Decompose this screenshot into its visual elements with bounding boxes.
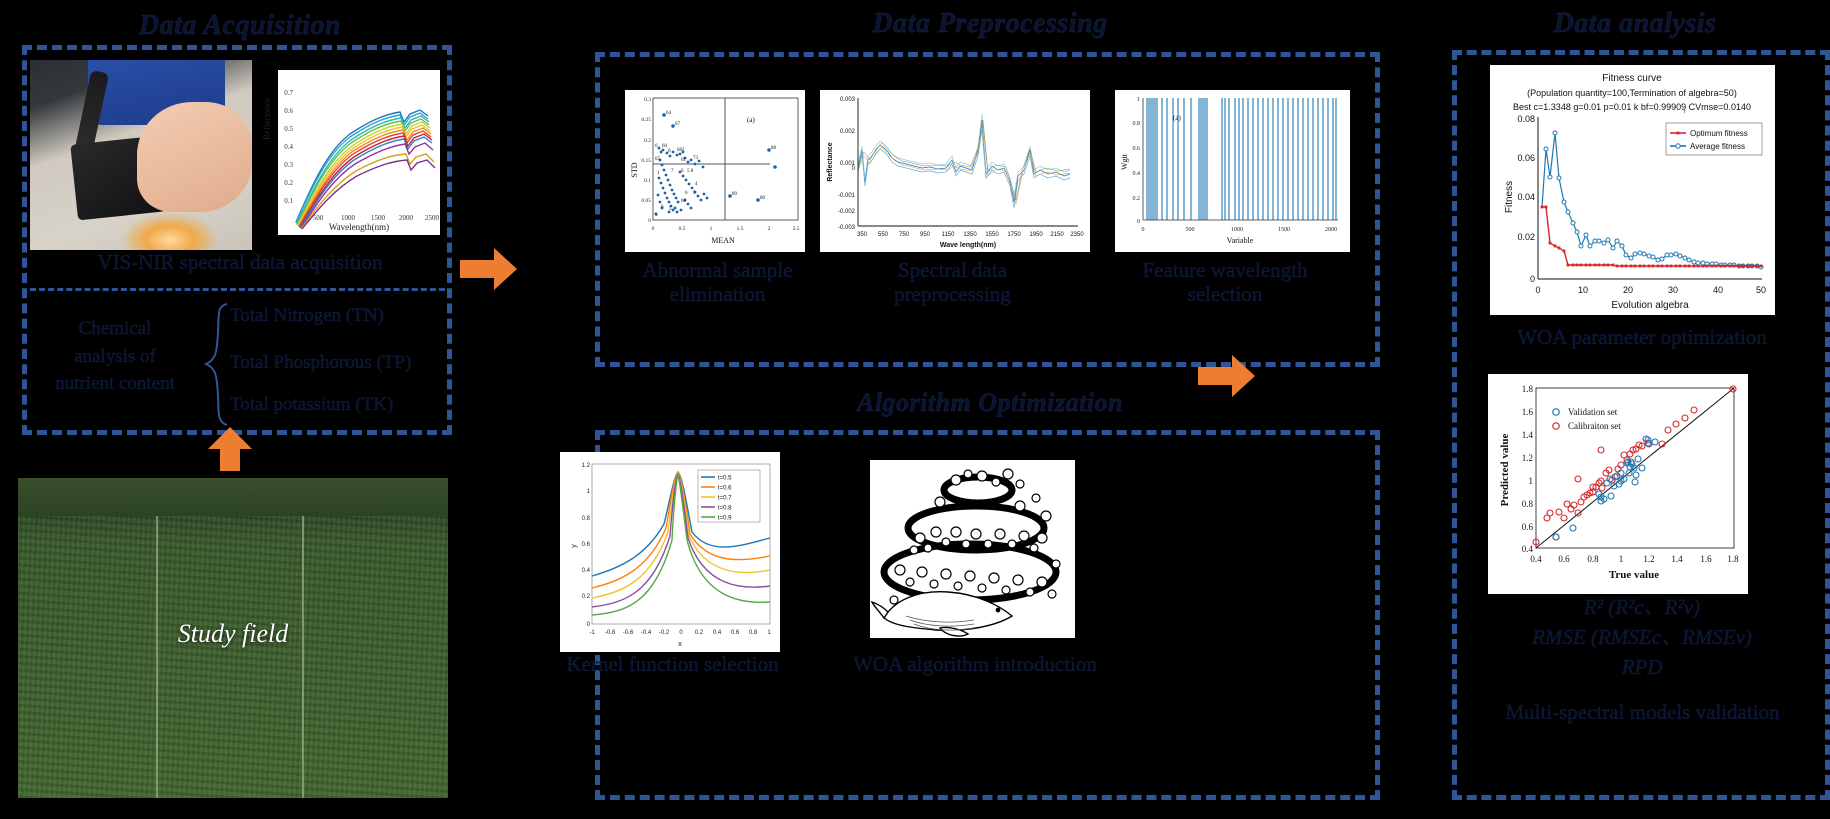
svg-text:1.8: 1.8 bbox=[1522, 384, 1534, 394]
svg-text:1500: 1500 bbox=[1278, 227, 1290, 233]
svg-text:80: 80 bbox=[760, 196, 766, 201]
svg-text:2350: 2350 bbox=[1070, 232, 1084, 238]
svg-text:y: y bbox=[571, 544, 578, 548]
svg-text:0: 0 bbox=[852, 166, 856, 172]
svg-text:0.6: 0.6 bbox=[1522, 522, 1534, 532]
caption-spectral-preprocessing: Spectral data preprocessing bbox=[840, 258, 1065, 306]
svg-text:-0.003: -0.003 bbox=[838, 225, 856, 231]
svg-text:t=0.9: t=0.9 bbox=[718, 516, 732, 522]
caption-woa-algorithm: WOA algorithm introduction bbox=[800, 652, 1150, 676]
svg-text:0.4: 0.4 bbox=[713, 630, 722, 636]
svg-text:0.2: 0.2 bbox=[1133, 196, 1141, 202]
svg-text:1950: 1950 bbox=[1029, 232, 1043, 238]
section-title-analysis: Data analysis bbox=[1440, 8, 1830, 40]
svg-text:0: 0 bbox=[648, 218, 651, 224]
svg-text:0.4: 0.4 bbox=[284, 143, 293, 151]
svg-text:1: 1 bbox=[710, 226, 713, 232]
svg-text:1.5: 1.5 bbox=[737, 226, 744, 232]
svg-text:1000: 1000 bbox=[1231, 227, 1243, 233]
svg-text:0: 0 bbox=[587, 622, 591, 628]
svg-text:67: 67 bbox=[675, 122, 681, 127]
arrow-acquisition-to-preprocessing bbox=[460, 248, 518, 290]
spectral-preprocessing-plot: 0.0030.0020.001 0-0.001-0.002 -0.003 350… bbox=[820, 90, 1090, 252]
svg-text:0.3: 0.3 bbox=[644, 97, 651, 103]
svg-text:Average fitness: Average fitness bbox=[1690, 142, 1745, 151]
svg-text:0.4: 0.4 bbox=[1522, 544, 1534, 554]
nutrient-item-tp: Total Phosphorous (TP) bbox=[230, 352, 455, 374]
spectrometer-photo bbox=[30, 60, 252, 250]
svg-text:0.4: 0.4 bbox=[1133, 171, 1141, 177]
svg-text:0.04: 0.04 bbox=[1517, 192, 1535, 202]
svg-text:0: 0 bbox=[1137, 219, 1140, 225]
section-title-preprocessing: Data Preprocessing bbox=[600, 8, 1380, 40]
svg-text:True value: True value bbox=[1609, 569, 1659, 581]
svg-text:1.4: 1.4 bbox=[1522, 430, 1534, 440]
svg-text:0.1: 0.1 bbox=[644, 178, 651, 184]
svg-text:-0.001: -0.001 bbox=[838, 193, 856, 199]
kernel-function-plot: t=0.5 t=0.6 t=0.7 t=0.8 t=0.9 1.210.8 0.… bbox=[560, 452, 780, 652]
svg-text:0.3: 0.3 bbox=[284, 161, 293, 169]
svg-text:1500: 1500 bbox=[371, 214, 386, 222]
svg-text:(a): (a) bbox=[1173, 114, 1181, 122]
svg-text:2000: 2000 bbox=[1325, 227, 1337, 233]
svg-text:950: 950 bbox=[920, 232, 931, 238]
svg-text:t=0.7: t=0.7 bbox=[718, 496, 732, 502]
svg-text:750: 750 bbox=[899, 232, 910, 238]
svg-text:1000: 1000 bbox=[341, 214, 356, 222]
caption-feature-wavelength: Feature wavelength selection bbox=[1090, 258, 1360, 306]
svg-text:0.08: 0.08 bbox=[1517, 114, 1535, 124]
svg-text:1.6: 1.6 bbox=[1522, 407, 1534, 417]
svg-text:0.002: 0.002 bbox=[840, 129, 856, 135]
svg-text:0.8: 0.8 bbox=[749, 630, 758, 636]
caption-kernel-function: Kernel function selection bbox=[560, 652, 785, 676]
svg-text:88: 88 bbox=[771, 146, 777, 151]
svg-text:0.6: 0.6 bbox=[1558, 554, 1570, 564]
svg-text:-0.002: -0.002 bbox=[838, 209, 856, 215]
svg-text:1750: 1750 bbox=[1007, 232, 1021, 238]
svg-text:2000: 2000 bbox=[399, 214, 414, 222]
svg-text:0.7: 0.7 bbox=[284, 89, 293, 97]
svg-text:0.2: 0.2 bbox=[644, 138, 651, 144]
svg-text:0.8: 0.8 bbox=[1587, 554, 1599, 564]
model-validation-plot: Validation set Calibraiton set bbox=[1488, 374, 1748, 594]
nutrient-item-tk: Total potassium (TK) bbox=[230, 394, 455, 416]
svg-text:0.6: 0.6 bbox=[1133, 146, 1141, 152]
fitness-curve-plot: Fitness curve (Population quantity=100,T… bbox=[1490, 65, 1775, 315]
svg-text:-0.2: -0.2 bbox=[659, 630, 670, 636]
svg-text:0.6: 0.6 bbox=[284, 107, 293, 115]
svg-text:0: 0 bbox=[1535, 285, 1540, 295]
svg-text:Wgit: Wgit bbox=[1120, 153, 1129, 170]
svg-text:0: 0 bbox=[1530, 274, 1535, 284]
svg-text:0.25: 0.25 bbox=[641, 117, 651, 123]
svg-text:0.05: 0.05 bbox=[641, 198, 651, 204]
spectra-yaxis-label: Reflectance bbox=[262, 98, 272, 140]
svg-text:89: 89 bbox=[732, 192, 738, 197]
svg-text:0.15: 0.15 bbox=[641, 158, 651, 164]
svg-text:0.4: 0.4 bbox=[1530, 554, 1542, 564]
svg-text:0.02: 0.02 bbox=[1517, 232, 1535, 242]
svg-text:Evolution algebra: Evolution algebra bbox=[1611, 300, 1689, 311]
svg-text:40: 40 bbox=[1713, 285, 1723, 295]
svg-text:5 8: 5 8 bbox=[687, 169, 694, 174]
spectra-plot: 0.70.60.5 0.40.30.2 0.1 50010001500 2000… bbox=[278, 70, 440, 235]
acquisition-divider bbox=[30, 288, 445, 291]
svg-text:550: 550 bbox=[878, 232, 889, 238]
spectra-xaxis-label: Wavelength(nm) bbox=[278, 222, 440, 232]
svg-text:Reflectance: Reflectance bbox=[827, 142, 834, 181]
nutrient-brace bbox=[203, 302, 229, 427]
svg-text:2.5: 2.5 bbox=[793, 226, 800, 232]
svg-text:0: 0 bbox=[679, 630, 683, 636]
spectra-curves bbox=[296, 110, 435, 229]
svg-text:-0.6: -0.6 bbox=[623, 630, 634, 636]
svg-text:60: 60 bbox=[662, 144, 668, 149]
svg-text:1: 1 bbox=[1137, 97, 1140, 103]
metric-rmse: RMSE (RMSEc、RMSEv) bbox=[1462, 625, 1822, 649]
svg-text:1.4: 1.4 bbox=[1671, 554, 1683, 564]
svg-text:0.1: 0.1 bbox=[284, 197, 293, 205]
svg-text:1150: 1150 bbox=[942, 232, 956, 238]
svg-text:Best c=1.3348 g=0.01 p=0.01 k: Best c=1.3348 g=0.01 p=0.01 k bf=0.99909… bbox=[1513, 102, 1751, 112]
svg-text:1.8: 1.8 bbox=[1727, 554, 1739, 564]
svg-text:Wave length(nm): Wave length(nm) bbox=[940, 242, 996, 249]
arrow-field-to-acquisition bbox=[206, 425, 254, 473]
svg-text:1: 1 bbox=[1619, 554, 1624, 564]
svg-text:0.2: 0.2 bbox=[582, 594, 591, 600]
svg-text:20: 20 bbox=[1623, 285, 1633, 295]
svg-text:-1: -1 bbox=[589, 630, 595, 636]
abnormal-sample-plot: (a) 6467 888980 6606 bbox=[625, 90, 805, 252]
svg-text:1.6: 1.6 bbox=[1700, 554, 1712, 564]
svg-text:(a): (a) bbox=[747, 116, 755, 124]
svg-text:0.8: 0.8 bbox=[1522, 499, 1534, 509]
section-title-algorithm: Algorithm Optimization bbox=[600, 388, 1380, 418]
svg-text:Calibraiton set: Calibraiton set bbox=[1568, 421, 1621, 431]
metric-r2: R² (R²c、R²v) bbox=[1462, 595, 1822, 619]
svg-text:0.2: 0.2 bbox=[695, 630, 704, 636]
svg-text:682: 682 bbox=[677, 148, 685, 153]
caption-abnormal-sample: Abnormal sample elimination bbox=[610, 258, 825, 306]
svg-text:0.6: 0.6 bbox=[582, 542, 591, 548]
svg-text:t=0.8: t=0.8 bbox=[718, 506, 732, 512]
svg-text:0.4: 0.4 bbox=[582, 568, 591, 574]
nutrient-item-tn: Total Nitrogen (TN) bbox=[230, 305, 445, 327]
svg-text:0.5: 0.5 bbox=[284, 125, 293, 133]
svg-text:66: 66 bbox=[681, 199, 687, 204]
arrow-preprocessing-to-analysis bbox=[1198, 355, 1256, 397]
svg-text:t=0.5: t=0.5 bbox=[718, 476, 732, 482]
kernel-legend: t=0.5 t=0.6 t=0.7 t=0.8 t=0.9 bbox=[698, 470, 760, 522]
svg-text:1: 1 bbox=[1529, 476, 1534, 486]
svg-text:1: 1 bbox=[767, 630, 771, 636]
svg-text:1550: 1550 bbox=[985, 232, 999, 238]
svg-text:Optimum fitness: Optimum fitness bbox=[1690, 129, 1748, 138]
svg-text:1.2: 1.2 bbox=[582, 463, 591, 469]
svg-text:2150: 2150 bbox=[1050, 232, 1064, 238]
svg-text:Fitness: Fitness bbox=[1504, 181, 1515, 213]
svg-text:0.5: 0.5 bbox=[679, 226, 686, 232]
chemical-analysis-label: Chemical analysis of nutrient content bbox=[30, 315, 200, 398]
fitness-legend: Optimum fitness Average fitness bbox=[1666, 123, 1762, 155]
svg-text:0.2: 0.2 bbox=[284, 179, 293, 187]
svg-text:0.8: 0.8 bbox=[582, 516, 591, 522]
svg-text:1: 1 bbox=[587, 489, 591, 495]
svg-text:r: r bbox=[1684, 109, 1686, 115]
svg-text:73: 73 bbox=[693, 156, 699, 161]
svg-text:1350: 1350 bbox=[963, 232, 977, 238]
svg-text:50: 50 bbox=[1756, 285, 1766, 295]
svg-text:t=0.6: t=0.6 bbox=[718, 486, 732, 492]
svg-text:Fitness curve: Fitness curve bbox=[1602, 73, 1662, 84]
svg-text:1.2: 1.2 bbox=[1522, 453, 1533, 463]
svg-text:10: 10 bbox=[1578, 285, 1588, 295]
study-field-label: Study field bbox=[18, 619, 448, 649]
svg-text:0: 0 bbox=[652, 226, 655, 232]
svg-text:x: x bbox=[678, 641, 682, 648]
woa-whale-illustration bbox=[870, 460, 1075, 638]
section-title-acquisition: Data Acquisition bbox=[20, 10, 460, 42]
svg-text:Variable: Variable bbox=[1227, 236, 1254, 245]
svg-text:MEAN: MEAN bbox=[711, 236, 735, 245]
svg-text:350: 350 bbox=[857, 232, 868, 238]
svg-text:0.8: 0.8 bbox=[1133, 121, 1141, 127]
svg-text:500: 500 bbox=[1186, 227, 1195, 233]
study-field-photo: Study field bbox=[18, 478, 448, 798]
svg-text:Validation set: Validation set bbox=[1568, 407, 1618, 417]
caption-spectral-acquisition: VIS-NIR spectral data acquisition bbox=[30, 250, 450, 274]
svg-text:2: 2 bbox=[768, 226, 771, 232]
svg-text:(Population quantity=100,Termi: (Population quantity=100,Termination of … bbox=[1527, 88, 1737, 98]
svg-text:61: 61 bbox=[681, 158, 687, 163]
svg-text:2500: 2500 bbox=[425, 214, 440, 222]
svg-text:0.003: 0.003 bbox=[840, 97, 856, 103]
svg-text:Predicted value: Predicted value bbox=[1499, 433, 1511, 506]
caption-multispectral-validation: Multi-spectral models validation bbox=[1455, 700, 1830, 724]
svg-text:1.2: 1.2 bbox=[1643, 554, 1654, 564]
svg-text:64: 64 bbox=[666, 111, 672, 116]
caption-woa-parameter-optimization: WOA parameter optimization bbox=[1462, 325, 1822, 349]
metric-rpd: RPD bbox=[1462, 655, 1822, 679]
svg-text:0.6: 0.6 bbox=[731, 630, 740, 636]
feature-wavelength-plot: (a) 10.80.6 0.40.20 05001000 15002000 Va… bbox=[1115, 90, 1350, 252]
svg-text:65: 65 bbox=[655, 157, 661, 162]
svg-text:-0.8: -0.8 bbox=[605, 630, 616, 636]
svg-text:STD: STD bbox=[630, 162, 639, 177]
svg-text:0: 0 bbox=[1142, 227, 1145, 233]
svg-text:500: 500 bbox=[313, 214, 324, 222]
svg-text:30: 30 bbox=[1668, 285, 1678, 295]
svg-text:0.06: 0.06 bbox=[1517, 153, 1535, 163]
svg-text:-0.4: -0.4 bbox=[641, 630, 652, 636]
